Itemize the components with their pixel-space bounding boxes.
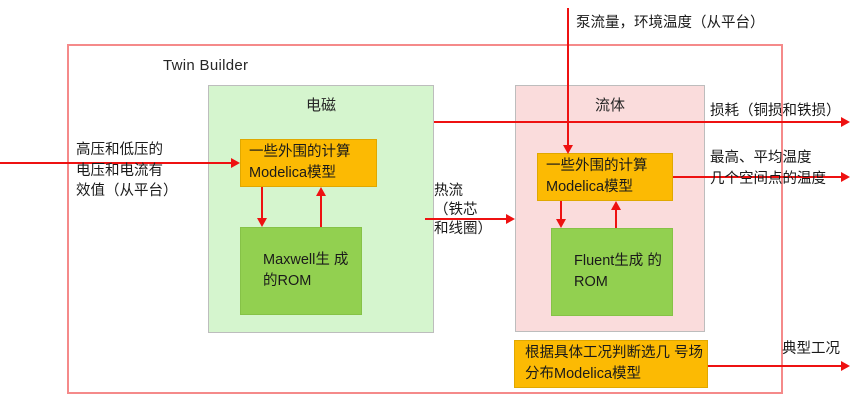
fluid-panel-title: 流体 — [516, 94, 704, 115]
electrical-input-arrow-icon — [231, 158, 240, 168]
electromagnetic-panel-title: 电磁 — [209, 94, 433, 115]
temperature-output-arrow-icon — [841, 172, 850, 182]
maxwell-rom-to-modelica-arrow-icon — [316, 187, 326, 196]
typical-case-output-line — [708, 365, 844, 367]
heat-flow-arrow-icon — [506, 214, 515, 224]
pump-input-arrow-icon — [563, 145, 573, 154]
fluid-modelica-box[interactable]: 一些外围的计算 Modelica模型 — [537, 153, 673, 201]
heat-flow-label: 热流 （铁芯 和线圈） — [434, 182, 492, 239]
fluent-rom-to-modelica-arrow-icon — [611, 201, 621, 210]
diagram-canvas: Twin Builder 电磁 一些外围的计算 Modelica模型 Maxwe… — [0, 0, 861, 408]
case-selection-modelica-box[interactable]: 根据具体工况判断选几 号场分布Modelica模型 — [514, 340, 708, 388]
twin-builder-title: Twin Builder — [163, 57, 248, 74]
pump-input-line — [567, 8, 569, 147]
fluid-modelica-to-rom-arrow-icon — [556, 219, 566, 228]
temperature-output-label: 最高、平均温度 几个空间点的温度 — [710, 148, 826, 189]
em-modelica-to-rom-line — [261, 187, 263, 220]
loss-output-arrow-icon — [841, 117, 850, 127]
maxwell-rom-to-modelica-line — [320, 194, 322, 227]
electromagnetic-modelica-box[interactable]: 一些外围的计算 Modelica模型 — [240, 139, 377, 187]
typical-case-output-arrow-icon — [841, 361, 850, 371]
maxwell-rom-box[interactable]: Maxwell生 成的ROM — [240, 227, 362, 315]
fluent-rom-box[interactable]: Fluent生成 的ROM — [551, 228, 673, 316]
pump-input-label: 泵流量，环境温度（从平台） — [576, 13, 765, 34]
loss-output-label: 损耗（铜损和铁损） — [710, 101, 841, 122]
fluid-modelica-to-rom-line — [560, 201, 562, 221]
em-modelica-to-rom-arrow-icon — [257, 218, 267, 227]
typical-case-output-label: 典型工况 — [782, 339, 840, 360]
fluent-rom-to-modelica-line — [615, 208, 617, 228]
electrical-input-label: 高压和低压的 电压和电流有 效值（从平台） — [76, 140, 178, 202]
